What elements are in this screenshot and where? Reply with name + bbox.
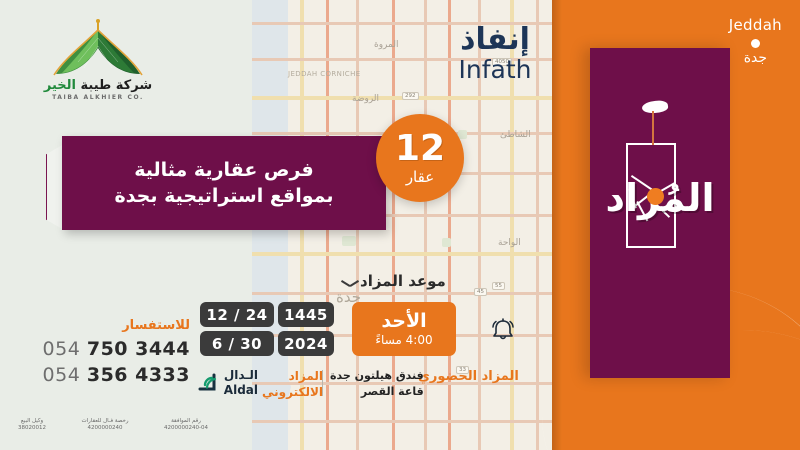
venue-line-1: فندق هيلتون جدة [330,368,424,384]
headline-box: فرص عقارية مثالية بمواقع استراتيجية بجدة [62,136,386,230]
gregorian-date-cell: 6 / 30 [200,331,274,356]
gregorian-year-cell: 2024 [278,331,334,356]
property-count-unit: عقار [406,168,434,186]
eauction-label-line-2: الالكتروني [262,384,323,400]
phone-2-prefix: 054 [43,364,81,386]
city-name-ar: جدة [729,51,782,66]
phone-1-rest: 750 3444 [87,338,190,360]
phone-2-rest: 356 4333 [87,364,190,386]
property-count-badge: 12 عقار [376,114,464,202]
company-logo: شركة طيبة الخير TAIBA ALKHIER CO. [28,18,168,110]
hijri-date-row: 12 / 24 1445 [200,302,334,327]
phone-1-prefix: 054 [43,338,81,360]
auction-time: 4:00 مساءً [375,333,432,347]
map-route-shield: 292 [402,92,419,100]
eauction-label-line-1: المزاد [262,368,323,384]
footer-title: رخصة فـال للعقارات [81,418,128,425]
map-label-district: الروضة [352,94,379,104]
map-label-district: المروة [374,40,398,50]
map-label-district: الشاطئ [500,130,531,140]
city-name-en: Jeddah [729,18,782,34]
city-dot-icon [751,39,760,48]
map-label-district: الواحة [498,238,521,248]
map-park [342,236,356,246]
map-route-shield: 45 [474,288,487,296]
footer-value: 38020012 [18,425,46,432]
footer-block: رخصة فـال للعقارات 4200000240 [81,418,128,432]
city-marker: Jeddah جدة [729,18,782,65]
logo-name-ar: شركة طيبة الخير [28,78,168,93]
venue-details: فندق هيلتون جدة قاعة القصر [330,368,424,400]
infath-platform-logo: إنفاذ Infath [430,22,560,84]
auction-day: الأحد [381,311,426,332]
aldal-name-ar: الـدال [224,368,258,382]
map-road [252,420,552,423]
auction-date-grid: 12 / 24 1445 6 / 30 2024 [200,302,334,356]
hijri-date-cell: 12 / 24 [200,302,274,327]
venue-line-2: قاعة القصر [330,384,424,400]
footer-value: 4200000240 [81,425,128,432]
green-dome-leaf-logo-icon [28,18,168,80]
map-pin-stem [652,111,654,145]
alarm-bell-icon [488,315,518,345]
footer-value: 4200000240-04 [164,425,208,432]
infath-name-ar: إنفاذ [430,22,560,57]
footer-block: وكيل البيع 38020012 [18,418,46,432]
aldal-partner-logo: الـدال Aldal [196,368,258,400]
footer-title: رقم الموافقة [164,418,208,425]
headline-line-2: بمواقع استراتيجية بجدة [114,185,333,207]
map-pin-dot [647,188,664,205]
map-label-corniche: JEDDAH CORNICHE [288,70,361,78]
headline-line-1: فرص عقارية مثالية [134,159,314,181]
chevron-down-icon [342,280,358,289]
footer-title: وكيل البيع [18,418,46,425]
footer-block: رقم الموافقة 4200000240-04 [164,418,208,432]
map-road [252,252,552,256]
aldal-name-en: Aldal [224,383,258,397]
venue-label: المزاد الحضوري [418,368,519,386]
phone-number-2: 054 356 4333 [20,364,190,386]
inquiry-label: للاستفسار [20,318,190,333]
auction-time-box: الأحد 4:00 مساءً [352,302,456,356]
auction-poster: JEDDAH CORNICHE جدة المروة الروضة الصفا … [0,0,800,450]
phone-number-1: 054 750 3444 [20,338,190,360]
footer-licenses: وكيل البيع 38020012 رخصة فـال للعقارات 4… [18,418,208,432]
map-road [252,292,552,295]
hijri-year-cell: 1445 [278,302,334,327]
headline-banner: فرص عقارية مثالية بمواقع استراتيجية بجدة [46,136,386,230]
property-count-number: 12 [395,131,445,167]
map-route-shield: 55 [492,282,505,290]
right-panel: Jeddah جدة المُراد [552,0,800,450]
infath-name-en: Infath [430,55,560,84]
map-swoosh-decoration [641,99,668,115]
eauction-label: المزاد الالكتروني [262,368,323,400]
aldal-swoosh-icon [196,371,220,393]
logo-name-en: TAIBA ALKHIER CO. [28,94,168,101]
murad-block: المُراد [590,48,730,378]
gregorian-date-row: 6 / 30 2024 [200,331,334,356]
map-park [442,238,451,247]
auction-date-title: موعد المزاد [360,272,446,290]
